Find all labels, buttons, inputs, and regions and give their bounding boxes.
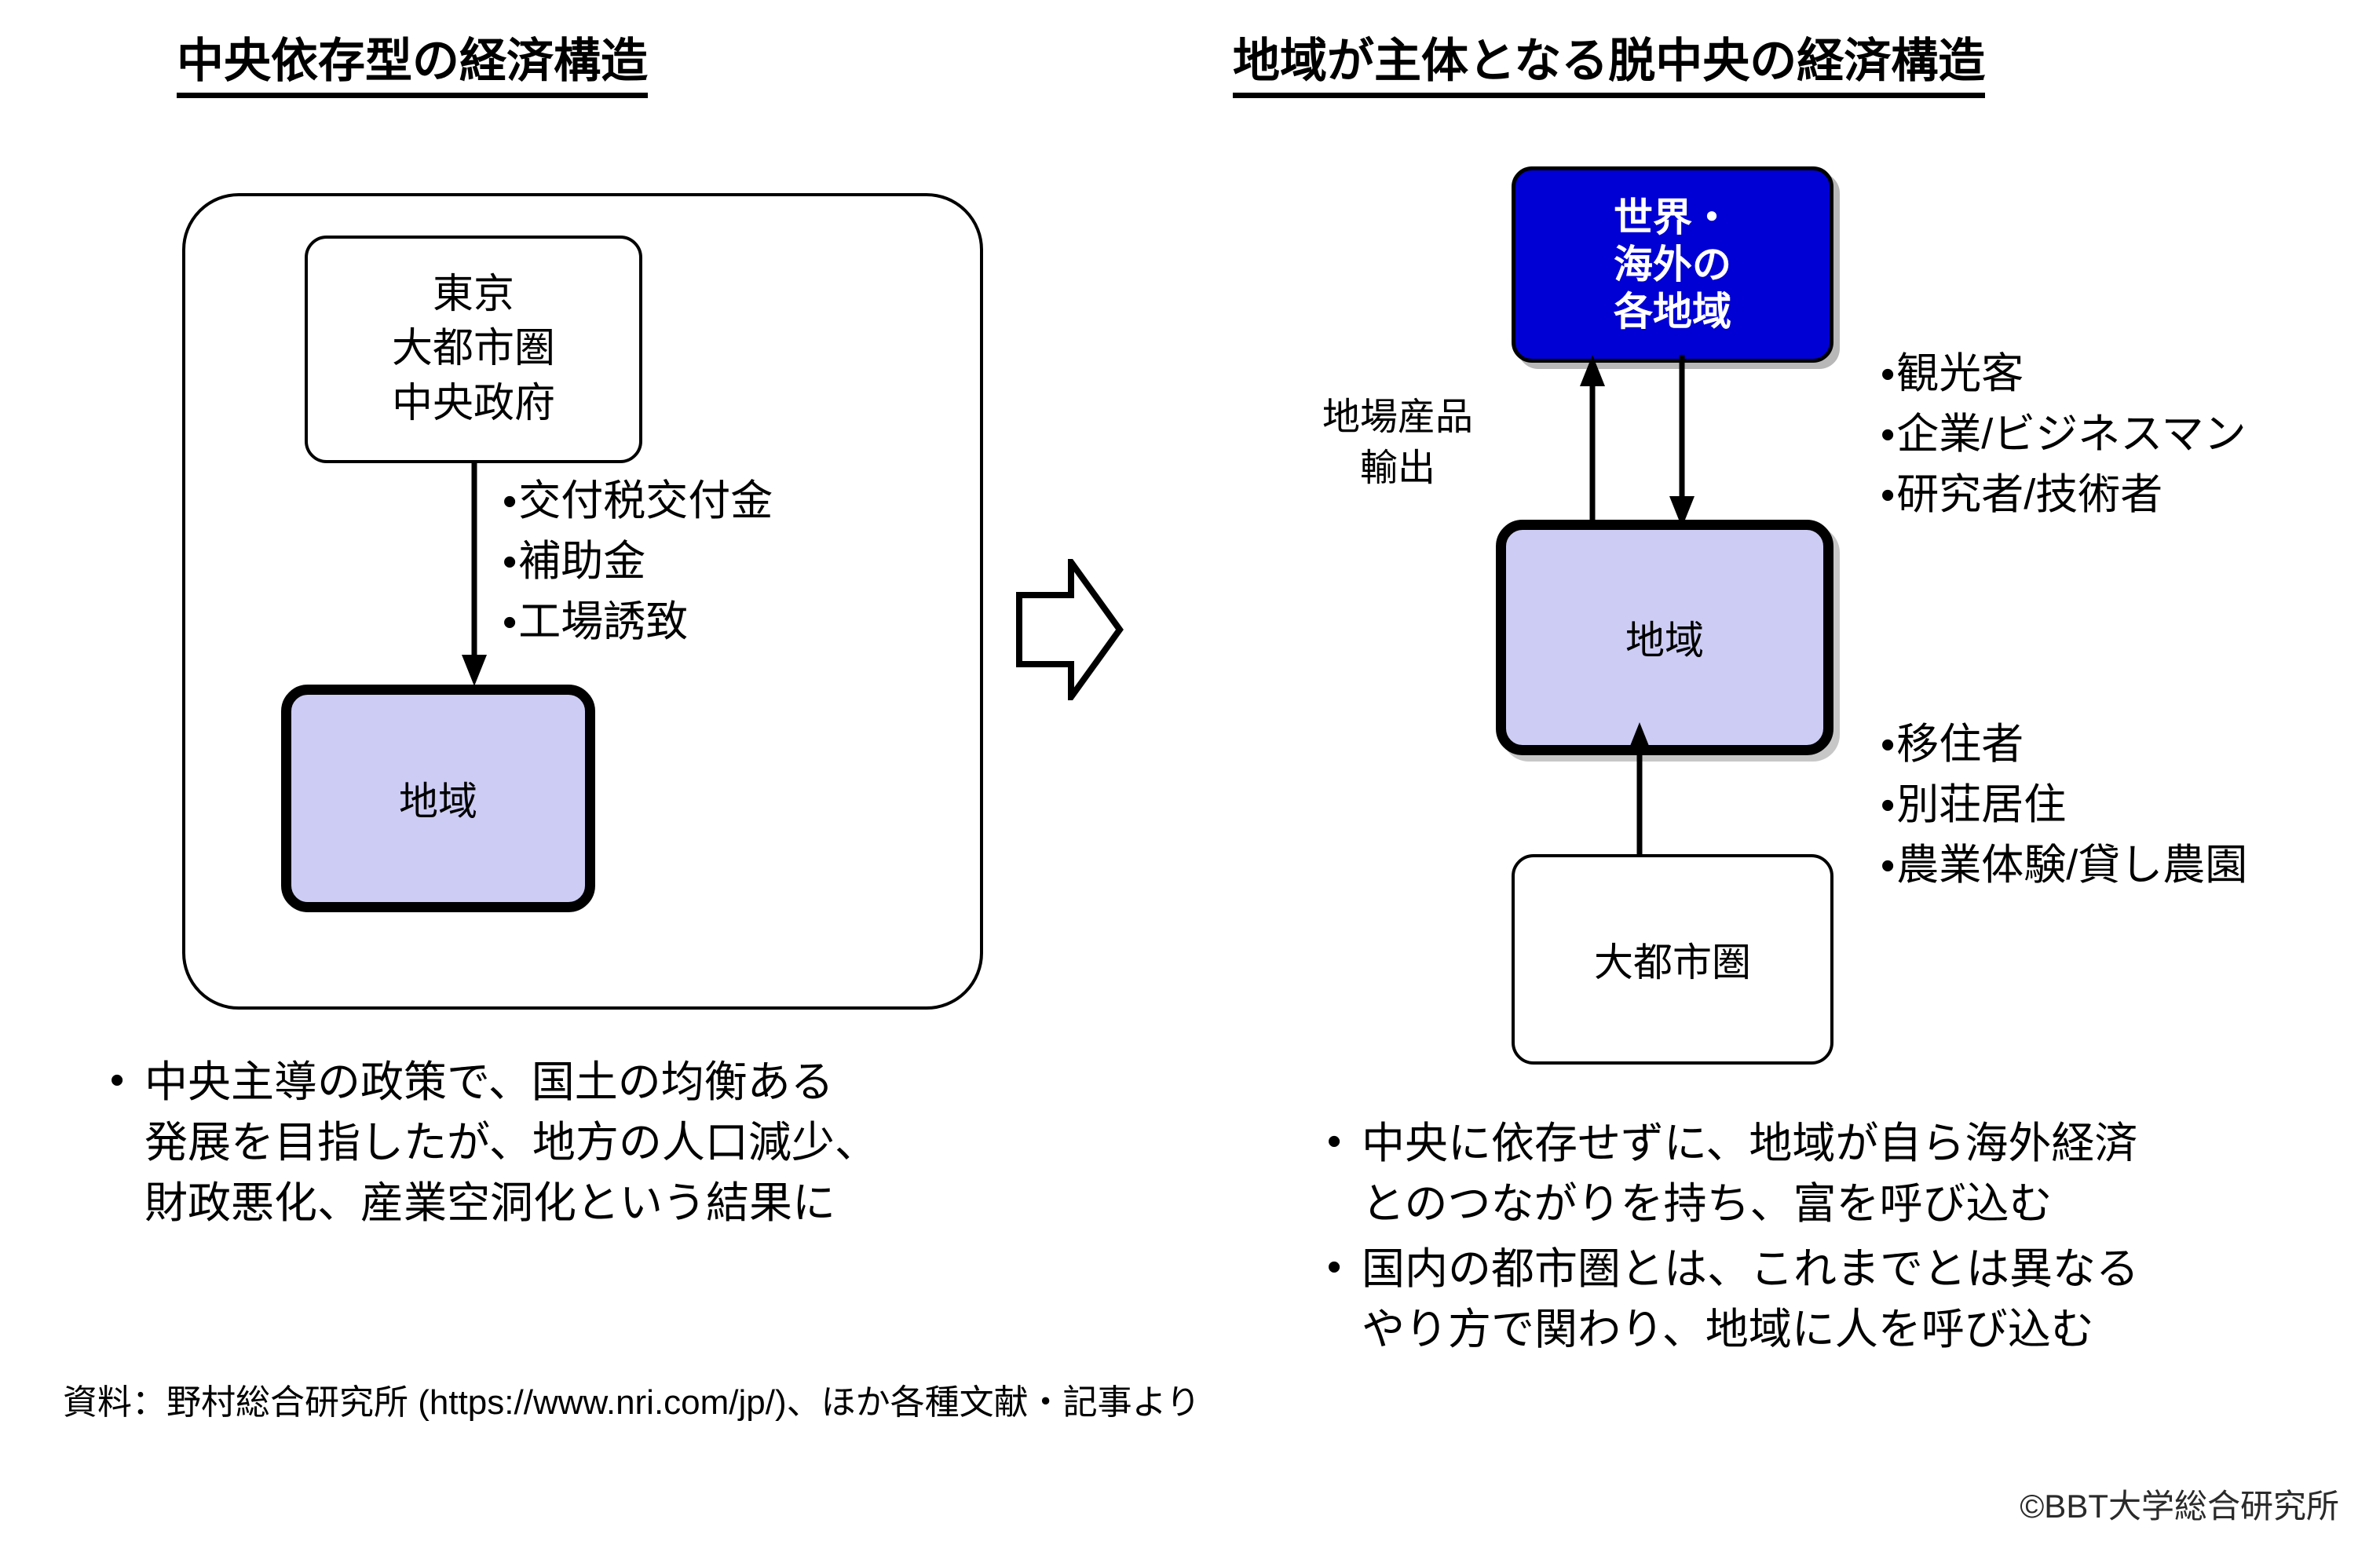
right-panel-title: 地域が主体となる脱中央の経済構造 [1233,38,1985,98]
domestic-flow-bullet-list: 移住者 別荘居住 農業体験/貸し農園 [1881,714,2247,895]
down-arrow-icon-tokyo-to-region [459,463,490,686]
up-arrow-icon-metro-to-region [1627,722,1652,857]
inbound-bullet-1: 企業/ビジネスマン [1881,404,2247,465]
domestic-bullet-0: 移住者 [1881,714,2247,775]
inbound-flow-bullet-list: 観光客 企業/ビジネスマン 研究者/技術者 [1881,344,2247,524]
right-summary-paragraph: 中央に依存せずに、地域が自ら海外経済 とのつながりを持ち、富を呼び込む 国内の都… [1327,1113,2139,1364]
inbound-bullet-0: 観光客 [1881,344,2247,404]
right-summary-item-1: 国内の都市圏とは、これまでとは異なる やり方で関わり、地域に人を呼び込む [1327,1239,2139,1360]
down-arrow-icon-world-to-region [1669,355,1695,528]
world-box-line-3: 各地域 [1614,288,1731,335]
domestic-bullet-1: 別荘居住 [1881,775,2247,835]
left-panel-title: 中央依存型の経済構造 [177,38,648,98]
world-overseas-regions-box: 世界・ 海外の 各地域 [1512,166,1833,363]
domestic-bullet-2: 農業体験/貸し農園 [1881,835,2247,896]
right-summary-item-1-line-1: 国内の都市圏とは、これまでとは異なる [1362,1239,2139,1299]
metropolitan-area-box-label: 大都市圏 [1594,931,1751,988]
left-summary-item-0-line-1: 中央主導の政策で、国土の均衡ある [144,1052,878,1112]
left-summary-paragraph: 中央主導の政策で、国土の均衡ある 発展を目指したが、地方の人口減少、 財政悪化、… [110,1052,878,1238]
right-summary-item-1-line-2: やり方で関わり、地域に人を呼び込む [1362,1299,2139,1360]
right-summary-item-0-line-2: とのつながりを持ち、富を呼び込む [1362,1174,2139,1234]
right-summary-item-0-line-1: 中央に依存せずに、地域が自ら海外経済 [1362,1113,2139,1174]
left-summary-item-0-line-3: 財政悪化、産業空洞化という結果に [144,1173,878,1233]
left-flow-bullet-2: 工場誘致 [503,592,773,652]
left-summary-item-0-line-2: 発展を目指したが、地方の人口減少、 [144,1112,878,1173]
copyright-note: ©BBT大学総合研究所 [2020,1480,2339,1528]
right-summary-item-0: 中央に依存せずに、地域が自ら海外経済 とのつながりを持ち、富を呼び込む [1327,1113,2139,1234]
up-arrow-icon-region-to-world [1580,355,1605,526]
tokyo-central-government-box: 東京 大都市圏 中央政府 [305,236,642,463]
tokyo-box-line-3: 中央政府 [392,377,555,431]
left-region-box: 地域 [281,685,595,912]
left-summary-item-0: 中央主導の政策で、国土の均衡ある 発展を目指したが、地方の人口減少、 財政悪化、… [110,1052,878,1233]
tokyo-box-line-2: 大都市圏 [392,322,555,376]
left-flow-bullet-list: 交付税交付金 補助金 工場誘致 [503,471,773,652]
metropolitan-area-box: 大都市圏 [1512,854,1833,1065]
source-note: 資料：野村総合研究所 (https://www.nri.com/jp/)、ほか各… [63,1374,1201,1424]
left-region-box-label: 地域 [399,770,477,827]
tokyo-box-line-1: 東京 [433,268,514,322]
world-box-line-1: 世界・ [1614,194,1731,241]
right-block-arrow-icon [1015,559,1124,700]
export-label-line-1: 地場産品 [1322,396,1473,438]
left-flow-bullet-1: 補助金 [503,531,773,592]
world-box-line-2: 海外の [1614,241,1731,288]
left-flow-bullet-0: 交付税交付金 [503,471,773,531]
right-panel-arrow-group [1461,345,1869,879]
inbound-bullet-2: 研究者/技術者 [1881,465,2247,525]
